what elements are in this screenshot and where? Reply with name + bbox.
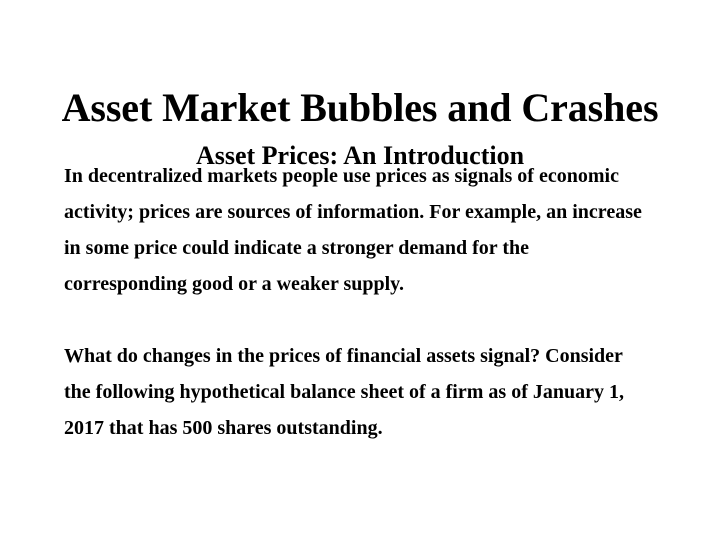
- body-line: What do changes in the prices of financi…: [64, 338, 664, 374]
- body-line: corresponding good or a weaker supply.: [64, 266, 664, 302]
- slide-title: Asset Market Bubbles and Crashes: [0, 85, 720, 131]
- body-line: the following hypothetical balance sheet…: [64, 374, 664, 410]
- body-line: 2017 that has 500 shares outstanding.: [64, 410, 664, 446]
- body-line: In decentralized markets people use pric…: [64, 158, 664, 194]
- body-paragraph-1: In decentralized markets people use pric…: [64, 158, 664, 302]
- body-line: in some price could indicate a stronger …: [64, 230, 664, 266]
- slide-body: In decentralized markets people use pric…: [64, 158, 664, 446]
- presentation-slide: Asset Market Bubbles and Crashes Asset P…: [0, 0, 720, 556]
- paragraph-spacer: [64, 302, 664, 338]
- body-line: activity; prices are sources of informat…: [64, 194, 664, 230]
- body-paragraph-2: What do changes in the prices of financi…: [64, 338, 664, 446]
